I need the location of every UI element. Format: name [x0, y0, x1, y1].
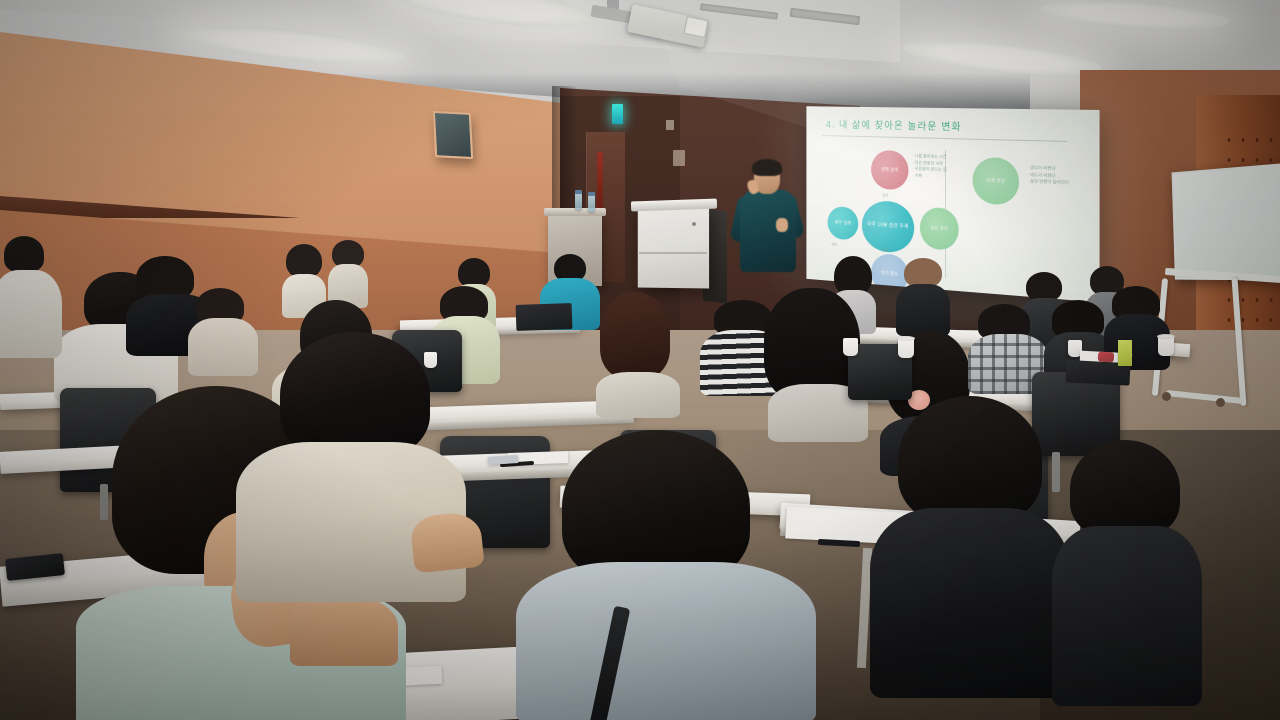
- green-bottle: [1118, 340, 1132, 366]
- presenter-torso: [740, 190, 796, 272]
- slide-caption-b: 점검: [882, 248, 888, 253]
- presenter-hair: [752, 159, 782, 176]
- water-bottle: [575, 192, 582, 210]
- torso: [0, 270, 62, 358]
- torso: [870, 508, 1070, 698]
- attendee-right-front: [1052, 440, 1202, 710]
- attendee-blonde-bob: [896, 258, 950, 334]
- wall-switch-plate: [673, 150, 685, 166]
- paper-cup: [1158, 336, 1174, 356]
- presenter: [736, 162, 806, 282]
- attendee-back-row: [328, 240, 368, 306]
- torso: [516, 562, 816, 720]
- attendee-blue-sleeveless: [516, 430, 816, 720]
- slide-bubble-pink: 생애 설계: [871, 150, 908, 191]
- hair: [1070, 440, 1180, 538]
- hair: [280, 332, 430, 458]
- hair: [4, 236, 44, 272]
- attendee-cream-cardigan-front: [236, 332, 466, 632]
- hair: [562, 430, 750, 584]
- water-bottle-cap: [575, 190, 582, 194]
- water-bottle: [588, 194, 595, 212]
- attendee-left-edge: [0, 236, 64, 356]
- seminar-room-photo: 4. 내 삶에 찾아온 놀라운 변화 생애 설계 재무 설계 하루 10분 습관…: [0, 0, 1280, 720]
- lectern-seam: [639, 252, 707, 254]
- mobile-whiteboard: [1172, 163, 1280, 280]
- laptop: [516, 303, 573, 331]
- lectern-knob: [692, 222, 696, 226]
- torso: [1052, 526, 1202, 706]
- slide-notes-right: · 생각이 바뀐다 · 태도가 바뀐다 · 삶의 방향이 달라진다: [1027, 165, 1069, 187]
- slide-notes-left: · 나를 돌아보는 시간 · 작은 변화의 시작 · 꾸준함이 만드는 힘 · …: [912, 153, 946, 181]
- slide-title: 4. 내 삶에 찾아온 놀라운 변화: [826, 116, 962, 133]
- wall-switch-plate: [666, 120, 674, 130]
- hair: [600, 292, 670, 378]
- paper-cup-rim: [897, 336, 915, 341]
- paper-cup: [843, 338, 858, 356]
- attendee-dark-front-right: [870, 396, 1070, 696]
- slide-caption-a: 실천: [882, 193, 888, 198]
- water-bottle-cap: [588, 192, 595, 196]
- lectern: [638, 206, 709, 289]
- paper-cup-rim: [1157, 334, 1175, 339]
- wall-speaker-icon: [433, 111, 473, 159]
- presenter-right-hand: [776, 218, 788, 232]
- torso: [596, 372, 680, 418]
- red-pouch: [1098, 351, 1115, 362]
- slide-caption-c: 계획: [831, 243, 837, 248]
- exit-sign-icon: [612, 104, 623, 124]
- wall-red-strip: [597, 152, 603, 214]
- paper-cup: [898, 338, 914, 358]
- whiteboard-wheel-icon: [1216, 398, 1225, 407]
- attendee-brown-hair: [596, 292, 680, 412]
- torso: [896, 284, 950, 336]
- hair: [286, 244, 322, 278]
- hair: [898, 396, 1042, 524]
